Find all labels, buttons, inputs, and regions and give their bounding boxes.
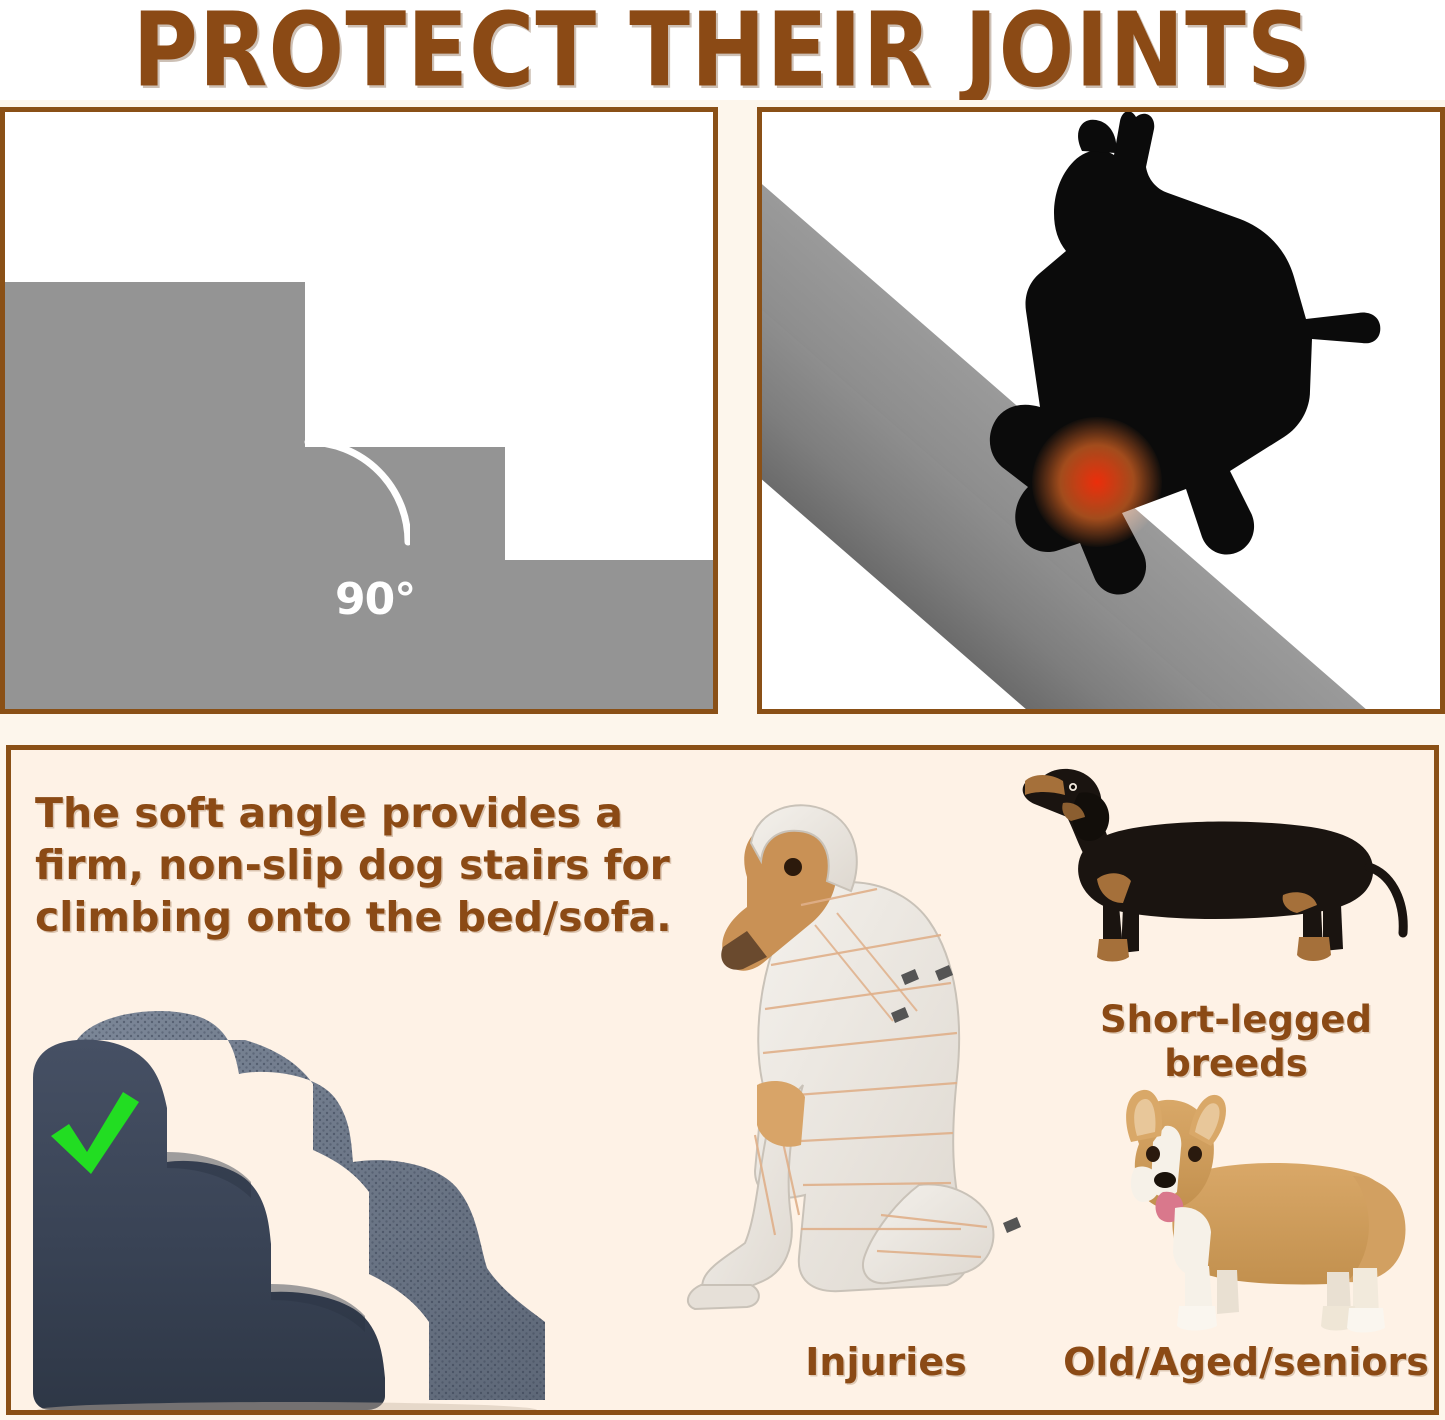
joint-pain-glow-front <box>1032 417 1162 547</box>
panel-stairs-problem: 90° Difficulty of climbing <box>0 107 718 714</box>
red-x-icon <box>784 710 844 714</box>
page-title-bar: PROTECT THEIR JOINTS <box>0 0 1445 100</box>
page-title: PROTECT THEIR JOINTS <box>133 0 1312 100</box>
caption-seniors: Old/Aged/seniors <box>1051 1340 1439 1385</box>
infographic-root: PROTECT THEIR JOINTS 90° Difficulty of c… <box>0 0 1445 1420</box>
stair-step-upper <box>5 282 305 714</box>
caption-injuries: Injuries <box>741 1340 1031 1385</box>
stair-step-lower <box>505 560 718 714</box>
panel-ramp-problem: Slippery, easy to fall <box>757 107 1445 714</box>
solution-headline: The soft angle provides a firm, non-slip… <box>35 787 735 943</box>
dachshund-image <box>1011 755 1411 1000</box>
red-x-icon <box>27 710 87 714</box>
caption-short-legged-breeds: Short-legged breeds <box>1071 998 1401 1085</box>
green-check-icon <box>47 1090 143 1176</box>
joint-pain-glow-rear <box>1242 512 1367 637</box>
dog-stairs-product-image <box>17 992 617 1415</box>
angle-label: 90° <box>335 578 415 622</box>
panel-solution: The soft angle provides a firm, non-slip… <box>6 745 1439 1415</box>
injured-dog-image <box>651 785 1071 1340</box>
corgi-image <box>1091 1080 1421 1340</box>
